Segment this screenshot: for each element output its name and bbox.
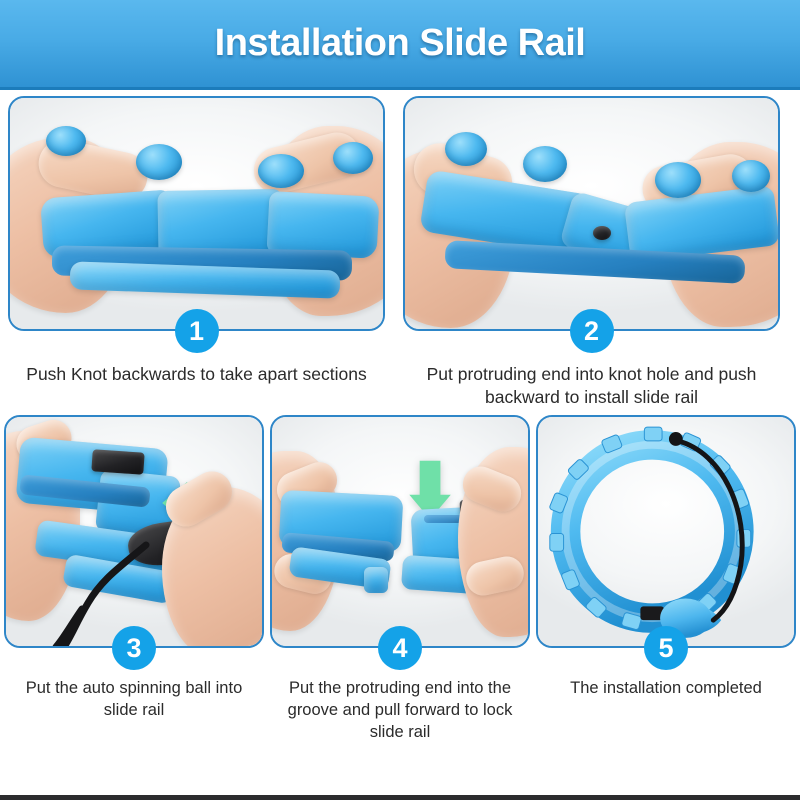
step-2-card-wrap: 2 (403, 96, 780, 331)
steps-row-bottom: 3 Put the auto spinning ball into slide … (0, 415, 800, 743)
infographic-page: Installation Slide Rail (0, 0, 800, 800)
step-number-badge: 2 (570, 309, 614, 353)
step-5-photo-card (536, 415, 796, 648)
step-number-badge: 3 (112, 626, 156, 670)
step-4-photo (272, 417, 528, 646)
step-5-photo (538, 417, 794, 646)
step-4-card-wrap: 4 (270, 415, 530, 648)
step-caption: Put the protruding end into the groove a… (270, 678, 530, 743)
step-number: 5 (658, 635, 673, 662)
step-4: 4 Put the protruding end into the groove… (270, 415, 530, 743)
massage-knob (258, 154, 304, 188)
step-2-photo (405, 98, 778, 329)
step-number-badge: 5 (644, 626, 688, 670)
step-number-badge: 1 (175, 309, 219, 353)
massage-knob (655, 162, 701, 198)
step-number: 1 (189, 318, 204, 345)
step-3-photo-card (4, 415, 264, 648)
massage-knob (732, 160, 770, 192)
step-1-photo-card (8, 96, 385, 331)
step-1: 1 Push Knot backwards to take apart sect… (8, 96, 385, 409)
step-5: 5 The installation completed (536, 415, 796, 743)
steps-row-top: 1 Push Knot backwards to take apart sect… (0, 96, 800, 409)
step-3: 3 Put the auto spinning ball into slide … (4, 415, 264, 743)
step-number: 3 (126, 635, 141, 662)
protruding-end (364, 567, 388, 593)
assembled-hoop (538, 417, 794, 646)
step-number-badge: 4 (378, 626, 422, 670)
joint-hole (593, 226, 611, 240)
step-2: 2 Put protruding end into knot hole and … (403, 96, 780, 409)
rail-clip (91, 449, 144, 475)
bottom-strip (0, 795, 800, 800)
header-banner: Installation Slide Rail (0, 0, 800, 90)
step-number: 4 (392, 635, 407, 662)
step-caption: The installation completed (566, 678, 766, 700)
massage-knob (445, 132, 487, 166)
step-5-card-wrap: 5 (536, 415, 796, 648)
massage-knob (136, 144, 182, 180)
massage-knob (523, 146, 567, 182)
step-caption: Put protruding end into knot hole and pu… (403, 363, 780, 409)
step-1-card-wrap: 1 (8, 96, 385, 331)
step-3-photo (6, 417, 262, 646)
page-title: Installation Slide Rail (215, 22, 586, 65)
step-2-photo-card (403, 96, 780, 331)
steps-grid: 1 Push Knot backwards to take apart sect… (0, 96, 800, 743)
massage-knob (333, 142, 373, 174)
massage-knob (46, 126, 86, 156)
step-caption: Push Knot backwards to take apart sectio… (22, 363, 370, 386)
step-3-card-wrap: 3 (4, 415, 264, 648)
step-caption: Put the auto spinning ball into slide ra… (4, 678, 264, 722)
step-number: 2 (584, 318, 599, 345)
step-4-photo-card (270, 415, 530, 648)
step-1-photo (10, 98, 383, 329)
